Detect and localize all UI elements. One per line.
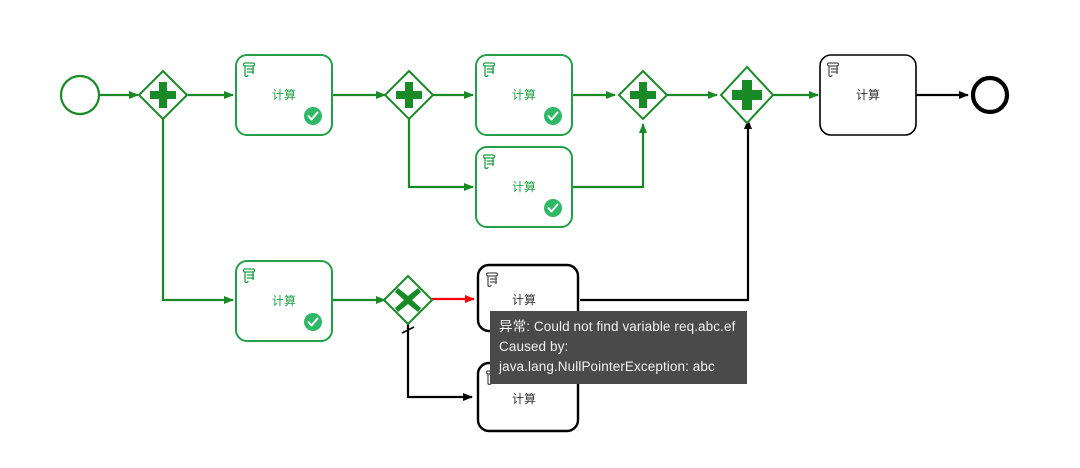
flow-gwx-to-taskalt xyxy=(408,324,472,397)
flow-gw1-to-task4 xyxy=(163,119,233,300)
gateway-parallel-join-1[interactable] xyxy=(619,71,667,119)
task-label: 计算 xyxy=(272,293,296,308)
gateway-parallel-split-2[interactable] xyxy=(385,71,433,119)
bpmn-diagram-canvas: 计算 计算 xyxy=(0,0,1080,468)
start-event[interactable] xyxy=(61,76,99,114)
task-node[interactable]: 计算 xyxy=(476,55,572,135)
end-event[interactable] xyxy=(973,78,1007,112)
task-label: 计算 xyxy=(512,179,536,194)
task-label: 计算 xyxy=(512,87,536,102)
task-node[interactable]: 计算 xyxy=(820,55,916,135)
flow-task3-to-gwjoin1 xyxy=(572,124,643,187)
gateway-parallel-split-1[interactable] xyxy=(139,71,187,119)
gateway-parallel-join-2[interactable] xyxy=(721,67,773,123)
status-badge-check xyxy=(544,107,562,125)
diagram-svg: 计算 计算 xyxy=(0,0,1080,468)
flow-gw2-to-task3 xyxy=(409,119,473,187)
status-badge-check xyxy=(304,313,322,331)
status-badge-check xyxy=(544,199,562,217)
task-label: 计算 xyxy=(512,391,536,406)
flow-taskerror-to-gwjoin2 xyxy=(580,120,748,300)
task-label: 计算 xyxy=(272,87,296,102)
error-tooltip: 异常: Could not find variable req.abc.ef C… xyxy=(490,311,747,384)
gateway-exclusive[interactable] xyxy=(384,276,432,324)
task-node[interactable]: 计算 xyxy=(236,55,332,135)
task-label: 计算 xyxy=(856,87,880,102)
task-node[interactable]: 计算 xyxy=(236,261,332,341)
task-label: 计算 xyxy=(512,292,536,307)
status-badge-check xyxy=(304,107,322,125)
task-node[interactable]: 计算 xyxy=(476,147,572,227)
